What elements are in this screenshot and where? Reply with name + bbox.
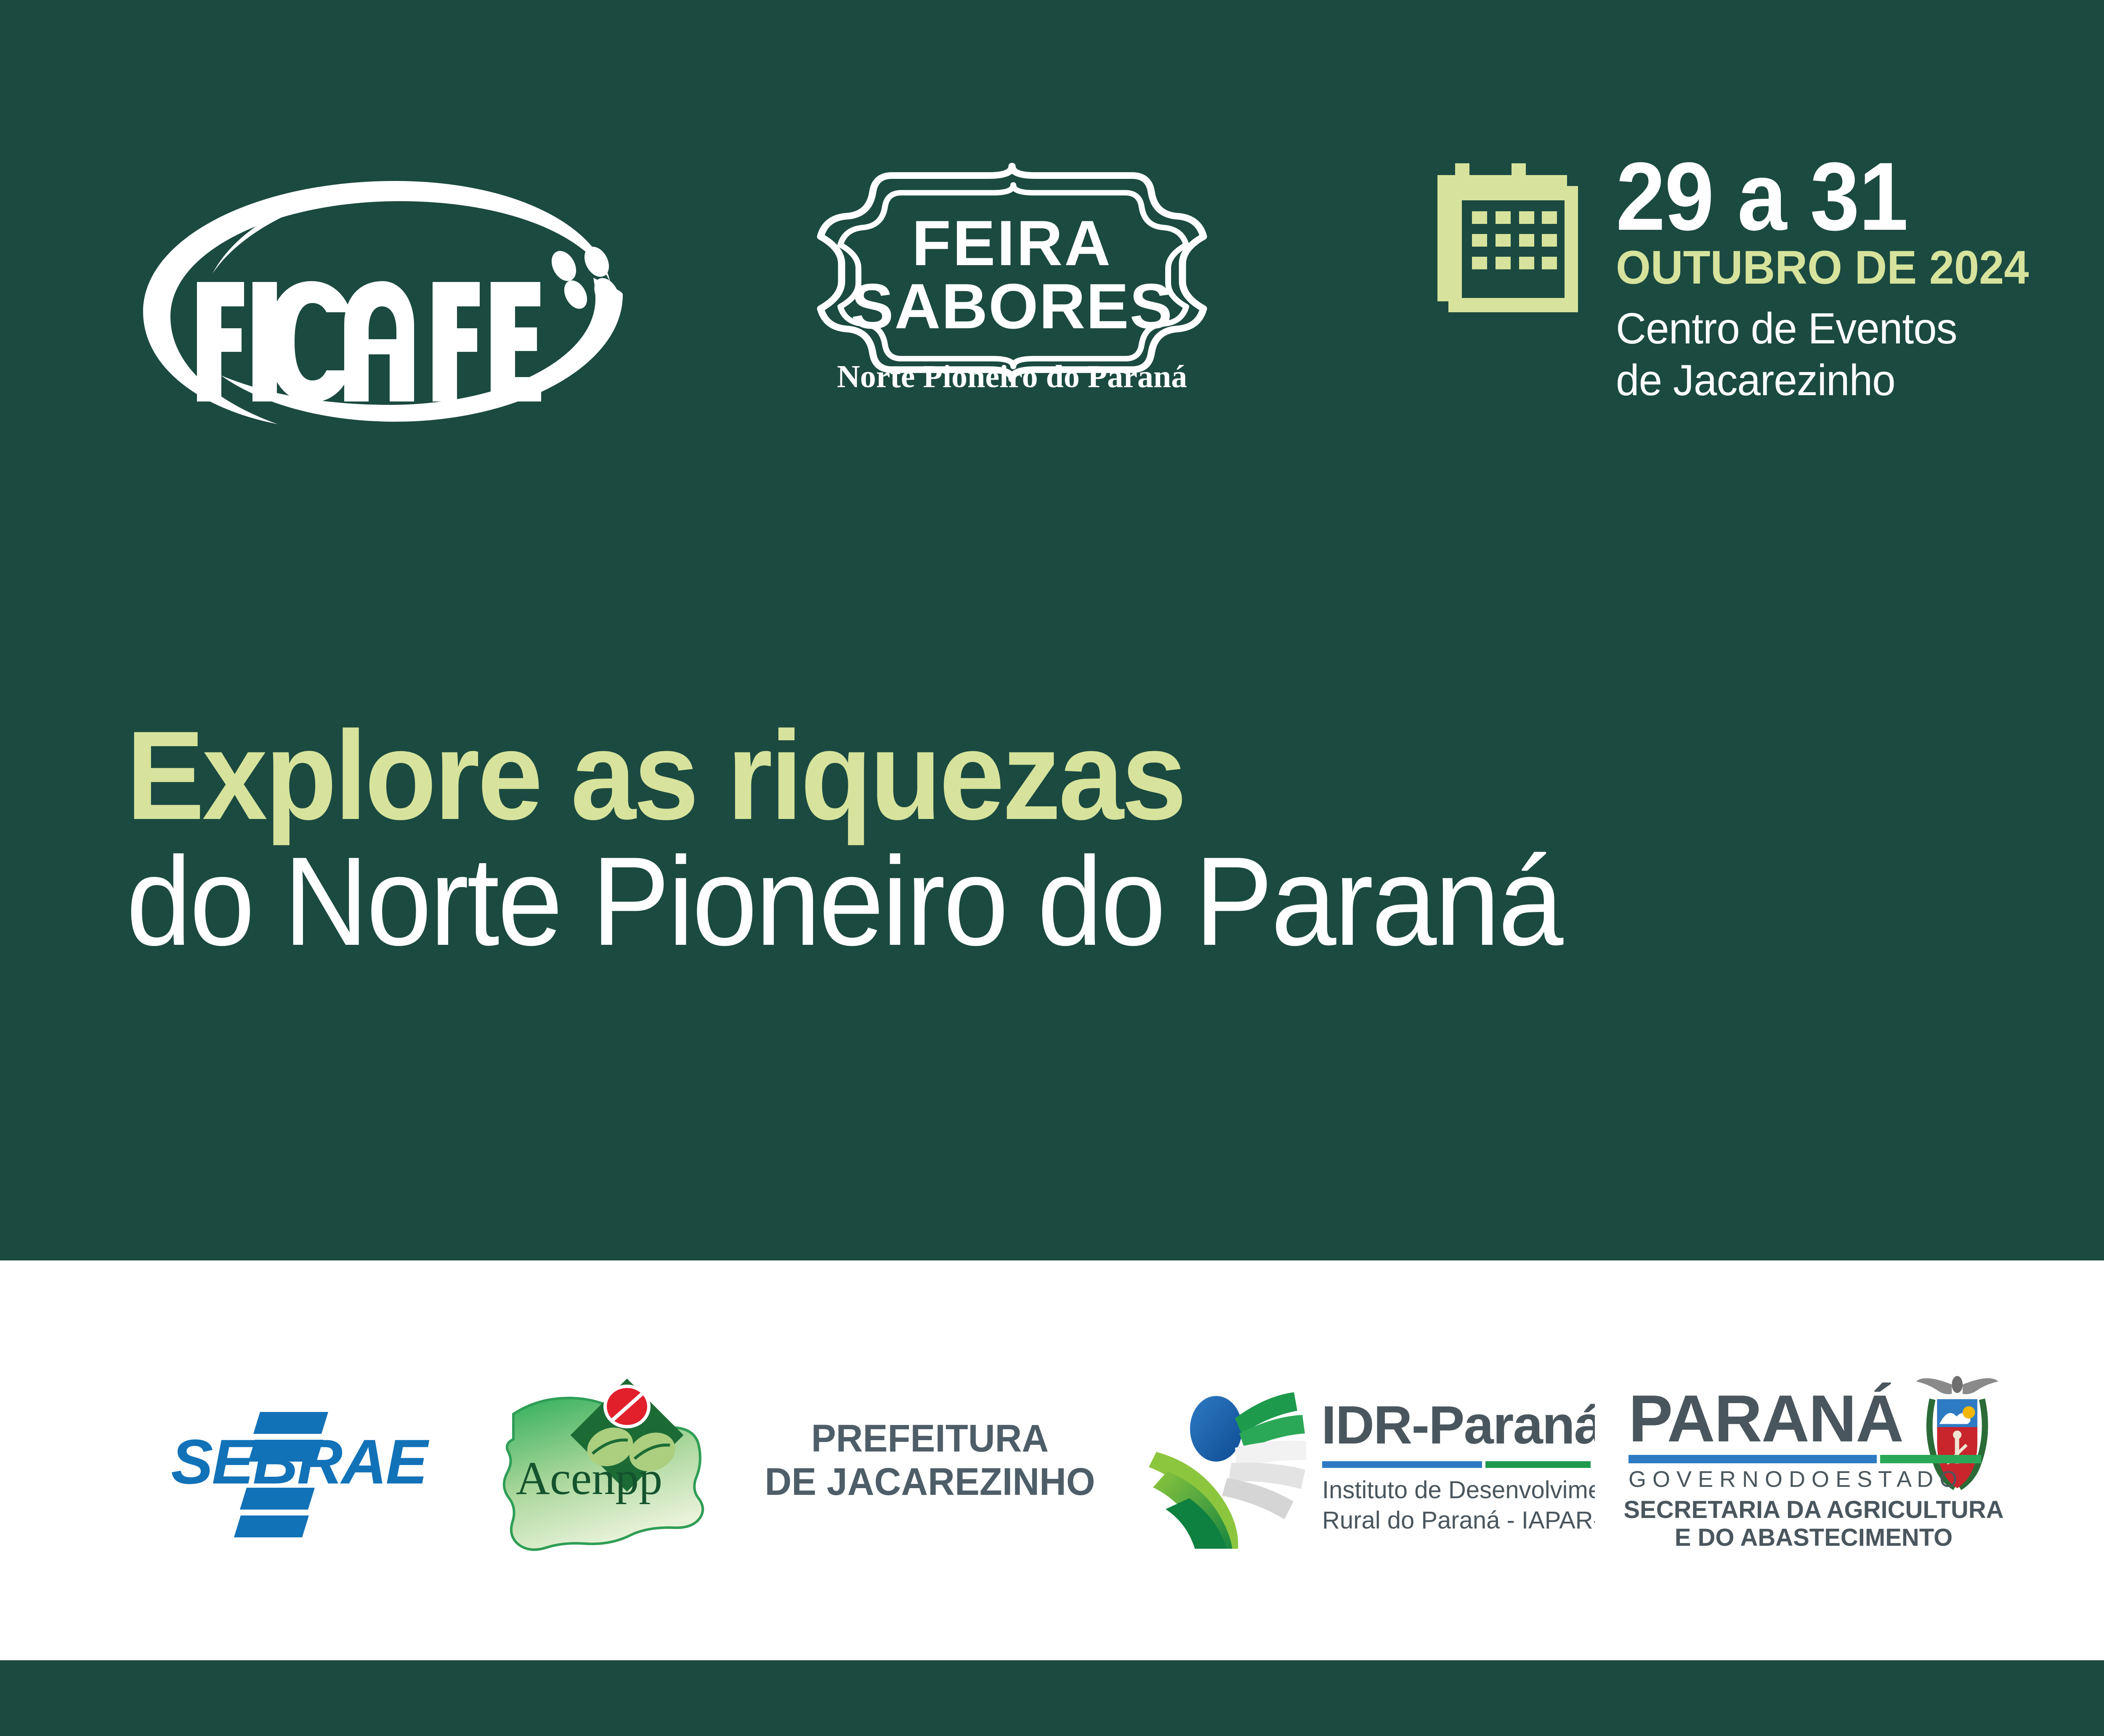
prefeitura-line-2: DE JACAREZINHO bbox=[765, 1460, 1095, 1504]
calendar-icon bbox=[1418, 160, 1586, 324]
event-date-block: 29 a 31 OUTUBRO DE 2024 Centro de Evento… bbox=[1418, 147, 2104, 484]
sponsor-logo-acenpp: Acenpp bbox=[459, 1260, 720, 1660]
prefeitura-line-1: PREFEITURA bbox=[765, 1417, 1095, 1460]
seal-line-3: Norte Pioneiro do Paraná bbox=[837, 359, 1187, 394]
sponsor-band: SEBRAE bbox=[0, 1260, 2104, 1660]
acenpp-wordmark: Acenpp bbox=[516, 1452, 662, 1505]
ficafe-logo bbox=[126, 156, 644, 450]
headline-line-1: Explore as riquezas bbox=[126, 715, 2104, 835]
feira-sabores-seal: FEIRA SABORES Norte Pioneiro do Paraná bbox=[741, 152, 1283, 450]
sponsor-logo-sebrae: SEBRAE bbox=[139, 1260, 459, 1660]
event-month-year: OUTUBRO DE 2024 bbox=[1616, 243, 2104, 292]
sebrae-wordmark: SEBRAE bbox=[171, 1426, 429, 1497]
parana-sub-1: G O V E R N O D O E S T A D O bbox=[1628, 1467, 1957, 1492]
parana-wordmark: PARANÁ bbox=[1628, 1382, 1903, 1456]
seal-line-1: FEIRA bbox=[912, 207, 1112, 279]
idr-sub-1: Instituto de Desenvolvimento bbox=[1322, 1476, 1595, 1504]
parana-sub-2: SECRETARIA DA AGRICULTURA bbox=[1623, 1496, 2003, 1523]
headline-line-2: do Norte Pioneiro do Paraná bbox=[126, 838, 2104, 964]
idr-wordmark: IDR-Paraná bbox=[1321, 1395, 1595, 1455]
venue-line-1: Centro de Eventos bbox=[1616, 303, 2104, 355]
promo-banner: FEIRA SABORES Norte Pioneiro do Paraná bbox=[0, 0, 2104, 1736]
event-dates: 29 a 31 bbox=[1616, 147, 2104, 246]
headline-block: Explore as riquezas do Norte Pioneiro do… bbox=[126, 715, 2104, 964]
sponsor-logo-prefeitura: PREFEITURA DE JACAREZINHO bbox=[720, 1260, 1140, 1660]
seal-line-2: SABORES bbox=[851, 271, 1173, 342]
idr-sub-2: Rural do Paraná - IAPAR-EMATER bbox=[1322, 1507, 1595, 1534]
sponsor-logo-idr-parana: IDR-Paraná Instituto de Desenvolvimento … bbox=[1140, 1260, 1603, 1660]
parana-sub-3: E DO ABASTECIMENTO bbox=[1675, 1524, 1953, 1551]
header-logo-row: FEIRA SABORES Norte Pioneiro do Paraná bbox=[0, 139, 2104, 484]
sponsor-logo-parana-governo: PARANÁ bbox=[1603, 1260, 2024, 1660]
venue-line-2: de Jacarezinho bbox=[1616, 355, 2104, 407]
